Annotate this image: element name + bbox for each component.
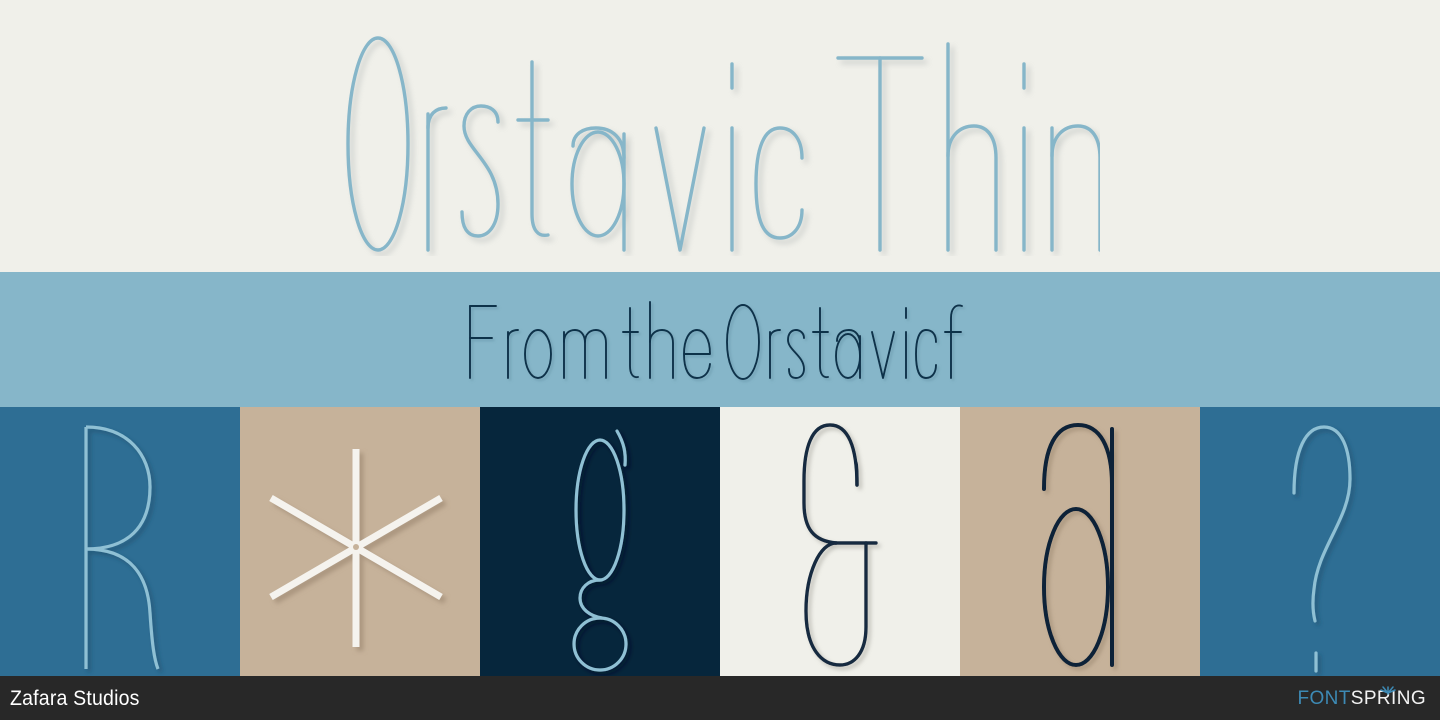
ampersand-icon [720, 407, 960, 676]
foundry-name: Zafara Studios [10, 688, 140, 709]
fontspring-logo[interactable]: FONTSPRING [1297, 689, 1426, 708]
font-specimen-page: Orstavic Thin [0, 0, 1440, 720]
glyph-panel-asterisk: * [240, 407, 480, 676]
capital-r-icon [0, 407, 240, 676]
glyph-panel-lowercase-a: a [960, 407, 1200, 676]
glyph-panel-lowercase-g: g [480, 407, 720, 676]
brand-font-text: FONT [1297, 689, 1350, 708]
lowercase-a-icon [960, 407, 1200, 676]
hero-banner: Orstavic Thin [0, 0, 1440, 272]
subtitle-artwork [460, 292, 980, 388]
footer-bar: Zafara Studios FONTSPRING [0, 676, 1440, 720]
glyph-panel-capital-r: R [0, 407, 240, 676]
subtitle-band: From the Orstavic font family [0, 272, 1440, 407]
glyph-panel-strip: R * [0, 407, 1440, 676]
lowercase-g-icon [480, 407, 720, 676]
glyph-panel-question-mark: ? [1200, 407, 1440, 676]
question-mark-icon [1200, 407, 1440, 676]
hero-title-artwork [340, 16, 1100, 256]
glyph-panel-ampersand: & [720, 407, 960, 676]
sprout-icon [1380, 684, 1396, 695]
asterisk-icon [240, 407, 480, 676]
